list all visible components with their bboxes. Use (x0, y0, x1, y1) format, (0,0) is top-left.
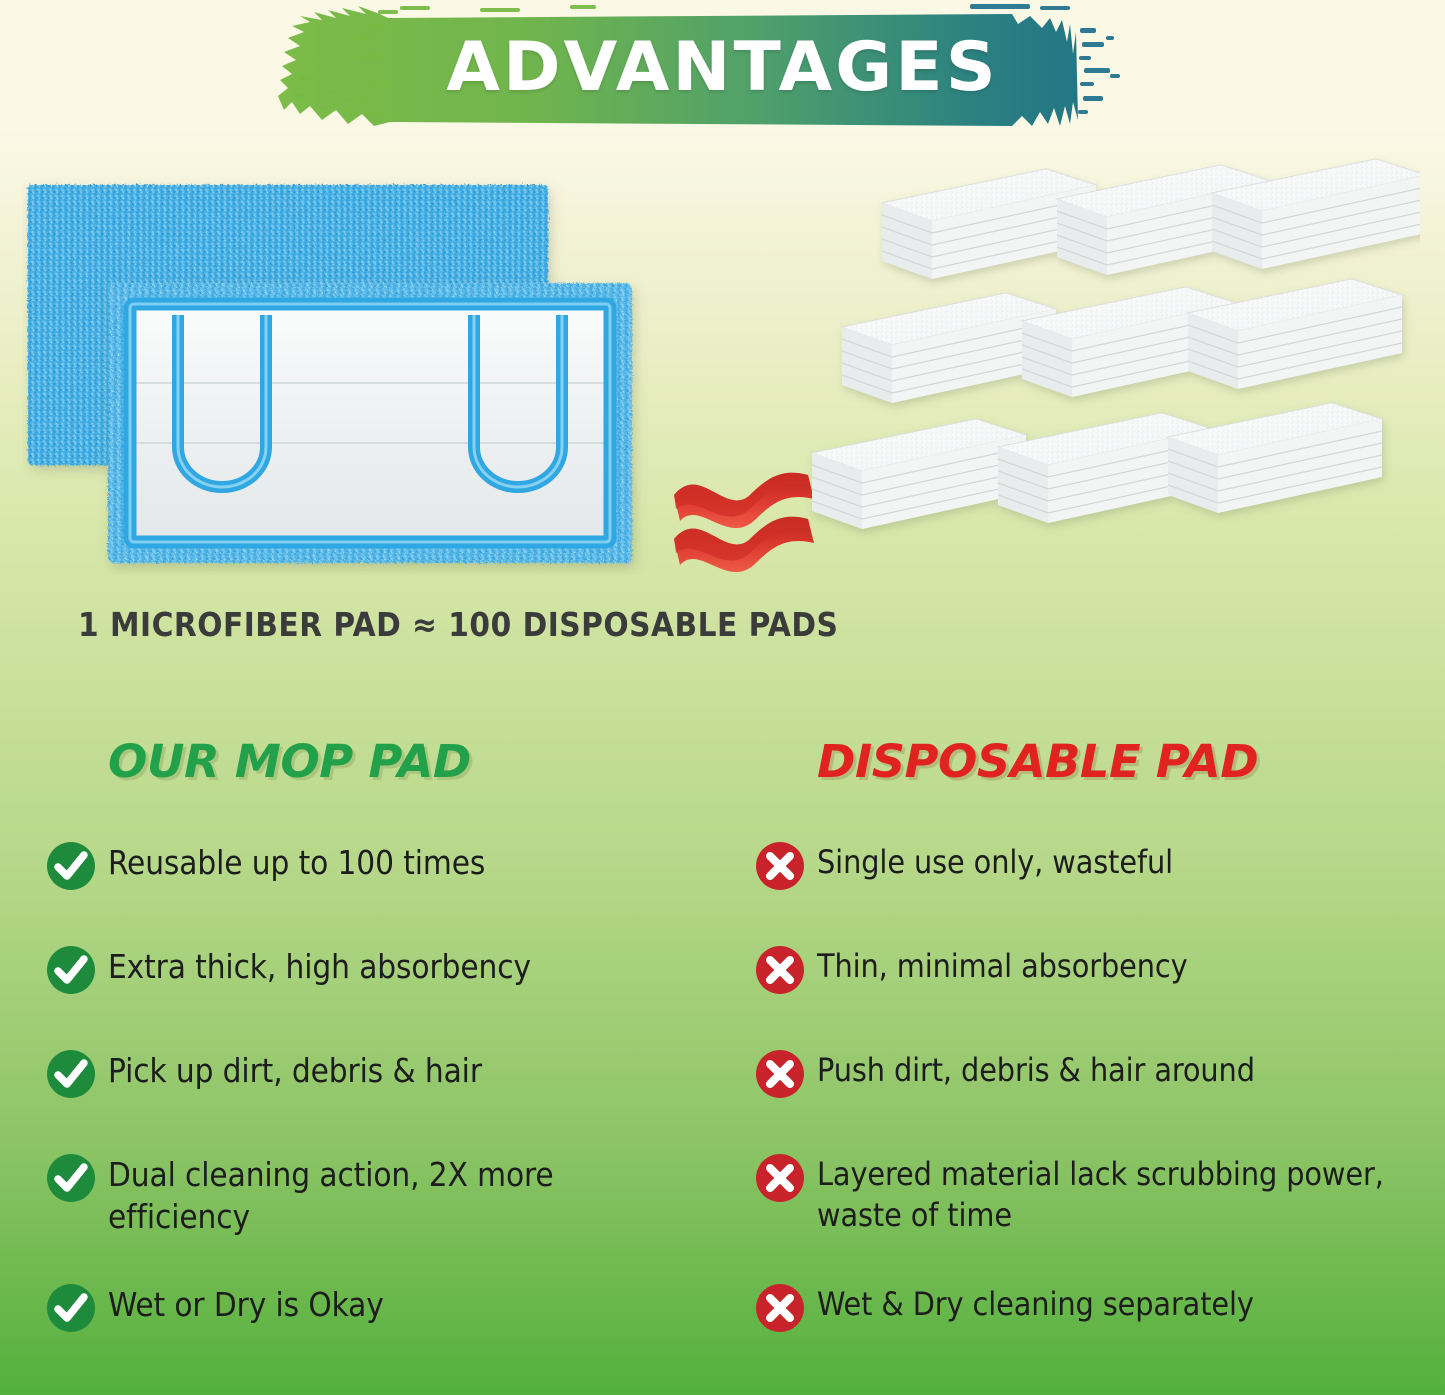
check-icon (46, 1153, 96, 1203)
disposable-pad-stacks-image (790, 155, 1420, 595)
comparison-column-disposable-pad: DISPOSABLE PAD Single use only, wasteful… (755, 735, 1425, 788)
cross-icon (755, 841, 805, 891)
list-item: Pick up dirt, debris & hair (46, 1047, 726, 1099)
list-item-label: Reusable up to 100 times (108, 839, 485, 884)
infographic-canvas: ADVANTAGES (0, 0, 1445, 1395)
list-item-label: Wet or Dry is Okay (108, 1281, 384, 1326)
list-item: Reusable up to 100 times (46, 839, 726, 891)
check-icon (46, 841, 96, 891)
list-item: Extra thick, high absorbency (46, 943, 726, 995)
list-item-label: Wet & Dry cleaning separately (817, 1281, 1254, 1325)
header-banner: ADVANTAGES (270, 2, 1175, 132)
cross-icon (755, 945, 805, 995)
check-icon (46, 1049, 96, 1099)
list-item-label: Dual cleaning action, 2X more efficiency (108, 1151, 666, 1238)
column-heading-our-mop-pad: OUR MOP PAD (108, 735, 745, 788)
list-item-label: Layered material lack scrubbing power, w… (817, 1151, 1417, 1235)
microfiber-mop-pad-image (22, 175, 662, 575)
list-item-label: Single use only, wasteful (817, 839, 1173, 883)
comparison-section: OUR MOP PAD Reusable up to 100 times Ext… (0, 735, 1445, 1395)
list-item: Dual cleaning action, 2X more efficiency (46, 1151, 666, 1238)
list-item: Layered material lack scrubbing power, w… (755, 1151, 1420, 1235)
list-item: Thin, minimal absorbency (755, 943, 1425, 995)
list-item-label: Extra thick, high absorbency (108, 943, 531, 988)
list-item-label: Push dirt, debris & hair around (817, 1047, 1255, 1091)
check-icon (46, 1283, 96, 1333)
list-item: Wet or Dry is Okay (46, 1281, 726, 1333)
list-item: Single use only, wasteful (755, 839, 1425, 891)
product-showcase (0, 150, 1445, 600)
equivalence-caption: 1 MICROFIBER PAD ≈ 100 DISPOSABLE PADS (78, 605, 1278, 644)
comparison-column-our-mop-pad: OUR MOP PAD Reusable up to 100 times Ext… (46, 735, 726, 788)
column-heading-disposable-pad: DISPOSABLE PAD (817, 735, 1443, 788)
list-item-label: Thin, minimal absorbency (817, 943, 1188, 987)
cross-icon (755, 1283, 805, 1333)
list-item: Wet & Dry cleaning separately (755, 1281, 1425, 1333)
cross-icon (755, 1153, 805, 1203)
cross-icon (755, 1049, 805, 1099)
list-item-label: Pick up dirt, debris & hair (108, 1047, 482, 1092)
check-icon (46, 945, 96, 995)
page-title: ADVANTAGES (261, 2, 1184, 132)
list-item: Push dirt, debris & hair around (755, 1047, 1425, 1099)
